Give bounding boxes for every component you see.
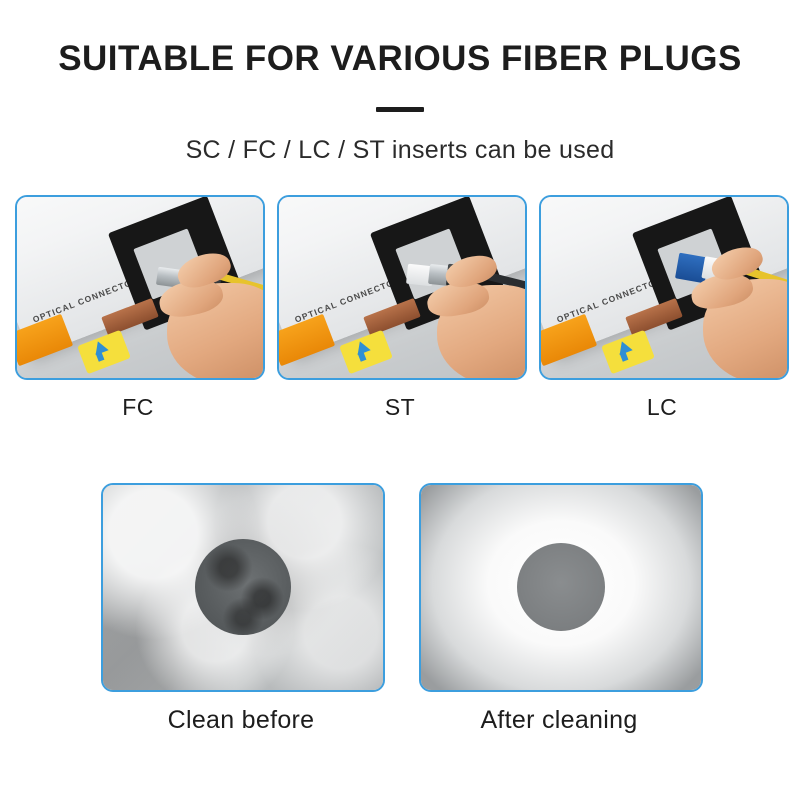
page-subtitle: SC / FC / LC / ST inserts can be used [0,136,800,165]
clean-fiber-core [517,543,605,631]
comparison-row: Clean before After cleaning [0,483,800,735]
comparison-card-after: After cleaning [419,483,699,735]
product-photo-card-fc: OPTICAL CONNECTOR CLEANER [15,195,261,421]
st-scene: OPTICAL CONNECTOR CLEANER [279,197,525,378]
product-photo-row: OPTICAL CONNECTOR CLEANER [0,195,800,421]
lc-connector-photo: OPTICAL CONNECTOR CLEANER [539,195,789,380]
comparison-caption-after: After cleaning [419,706,699,735]
comparison-caption-before: Clean before [101,706,381,735]
product-photo-card-lc: OPTICAL CONNECTOR CLEANER LC [539,195,785,421]
title-divider [376,107,424,112]
lc-scene: OPTICAL CONNECTOR CLEANER [541,197,787,378]
photo-caption-lc: LC [539,394,785,421]
fc-scene: OPTICAL CONNECTOR CLEANER [17,197,263,378]
st-connector-photo: OPTICAL CONNECTOR CLEANER [277,195,527,380]
page-title: SUITABLE FOR VARIOUS FIBER PLUGS [0,40,800,79]
fc-connector-photo: OPTICAL CONNECTOR CLEANER [15,195,265,380]
dirty-fiber-core [195,539,291,635]
comparison-card-before: Clean before [101,483,381,735]
product-photo-card-st: OPTICAL CONNECTOR CLEANER ST [277,195,523,421]
fiber-endface-dirty [101,483,385,692]
fiber-endface-clean [419,483,703,692]
photo-caption-fc: FC [15,394,261,421]
photo-caption-st: ST [277,394,523,421]
